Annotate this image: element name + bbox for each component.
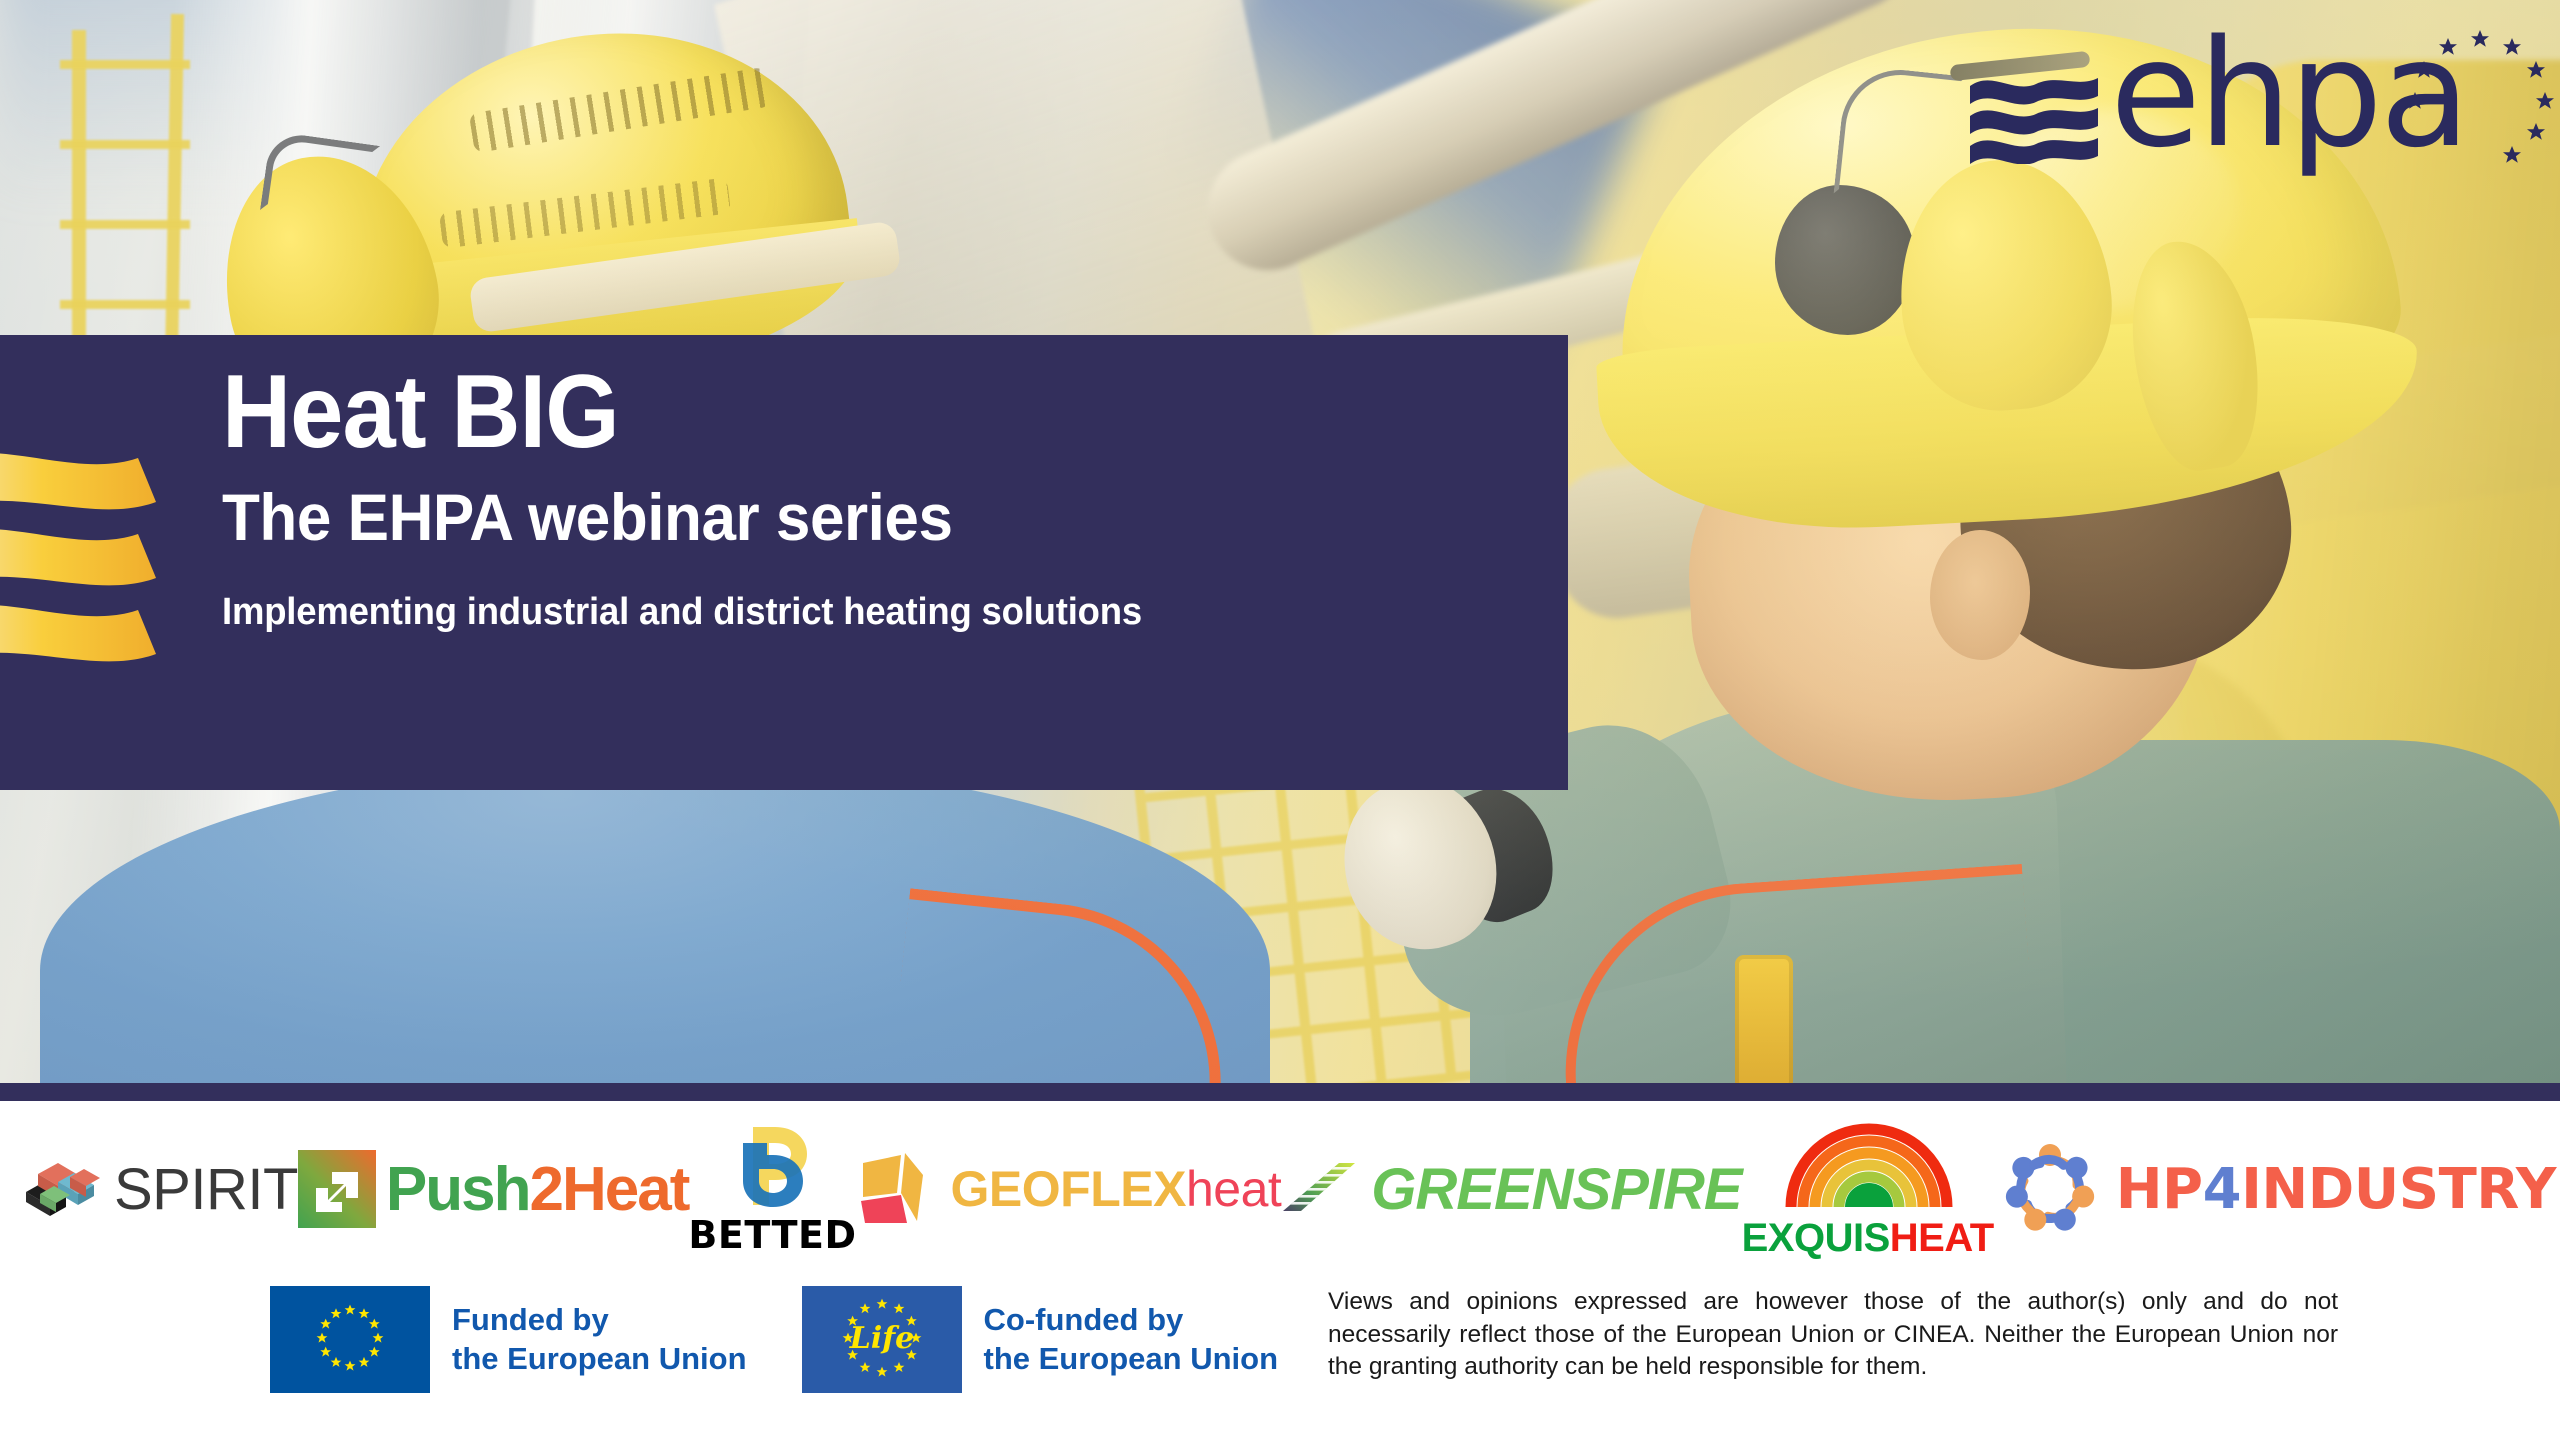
ear-defender-wire (260, 131, 380, 226)
partner-label-betted: BETTED (688, 1213, 856, 1257)
webinar-banner: ehpa (0, 0, 2560, 1440)
yellow-railing (60, 140, 190, 149)
title-text-block: Heat BIG The EHPA webinar series Impleme… (222, 359, 1542, 635)
worker-ear (1930, 530, 2030, 660)
striped-wedge-icon (1281, 1159, 1361, 1219)
partner-logo-geoflexheat[interactable]: GEOFLEXheat (857, 1149, 1282, 1229)
partner-label-push2heat: Push2Heat (386, 1154, 688, 1225)
geo-shard-icon (857, 1149, 941, 1229)
hp4-part3: INDUSTRY (2241, 1157, 2556, 1222)
hp4-part1: HP (2116, 1157, 2203, 1222)
arrow-square-icon (298, 1150, 376, 1228)
partner-label-hp4industry: HP4INDUSTRY (2116, 1157, 2556, 1222)
geoflex-part2: heat (1186, 1161, 1281, 1217)
interlocking-b-icon (731, 1121, 813, 1211)
partner-logo-hp4industry[interactable]: HP4INDUSTRY (1994, 1133, 2556, 1245)
push2heat-part3: Heat (562, 1155, 688, 1224)
ehpa-logo[interactable]: ehpa (1960, 22, 2550, 172)
eu-stars-circle-icon (2390, 24, 2560, 174)
yellow-railing (72, 30, 86, 360)
yellow-railing (60, 60, 190, 69)
push2heat-part2: 2 (530, 1155, 562, 1224)
partner-logo-push2heat[interactable]: Push2Heat (298, 1150, 688, 1228)
heat-big-wave-mark-icon (0, 450, 180, 680)
partner-label-greenspire: GREENSPIRE (1371, 1156, 1741, 1223)
exquisheat-part1: EXQUIS (1742, 1216, 1890, 1260)
life-wordmark: Life (848, 1321, 913, 1356)
ehpa-waves-icon (1970, 72, 2100, 164)
isometric-blocks-icon (18, 1152, 104, 1226)
funding-disclaimer: Views and opinions expressed are however… (1328, 1286, 2338, 1384)
ear-defender-hinge (1775, 185, 1915, 335)
eu-flag-icon (270, 1286, 430, 1393)
exquisheat-part2: HEAT (1890, 1216, 1994, 1260)
push2heat-part1: Push (386, 1155, 530, 1224)
partner-logo-greenspire[interactable]: GREENSPIRE (1281, 1156, 1741, 1223)
eu-life-flag-icon: Life (802, 1286, 962, 1393)
section-divider (0, 1083, 2560, 1101)
yellow-railing (60, 300, 190, 309)
hp4-part2: 4 (2203, 1157, 2241, 1222)
partner-logo-exquisheat[interactable]: EXQUISHEAT (1742, 1117, 1994, 1261)
yellow-railing (60, 220, 190, 229)
gas-detector (1735, 955, 1793, 1083)
partner-label-exquisheat: EXQUISHEAT (1742, 1216, 1994, 1261)
partner-logo-betted[interactable]: BETTED (688, 1121, 856, 1257)
geoflex-part1: GEOFLEX (951, 1161, 1186, 1217)
page-tagline: Implementing industrial and district hea… (222, 590, 1489, 636)
footer: SPIRIT Push2Heat (0, 1101, 2560, 1440)
eu-badge-funded: Funded by the European Union (270, 1286, 747, 1393)
partner-logo-row: SPIRIT Push2Heat (0, 1109, 2560, 1269)
rainbow-arc-icon (1783, 1117, 1953, 1212)
eu-badge-co-funded: Life Co-funded by the European Union (802, 1286, 1279, 1393)
title-panel: Heat BIG The EHPA webinar series Impleme… (0, 335, 1568, 790)
partner-label-geoflexheat: GEOFLEXheat (951, 1160, 1282, 1218)
eu-badge-label-funded: Funded by the European Union (452, 1301, 747, 1379)
eu-badge-label-co-funded: Co-funded by the European Union (984, 1301, 1279, 1379)
people-circle-icon (1994, 1133, 2106, 1245)
page-subtitle: The EHPA webinar series (222, 481, 1463, 554)
partner-label-spirit: SPIRIT (114, 1156, 298, 1223)
page-title: Heat BIG (222, 359, 1436, 465)
partner-logo-spirit[interactable]: SPIRIT (18, 1152, 298, 1226)
eu-funding-row: Funded by the European Union (0, 1286, 2560, 1426)
